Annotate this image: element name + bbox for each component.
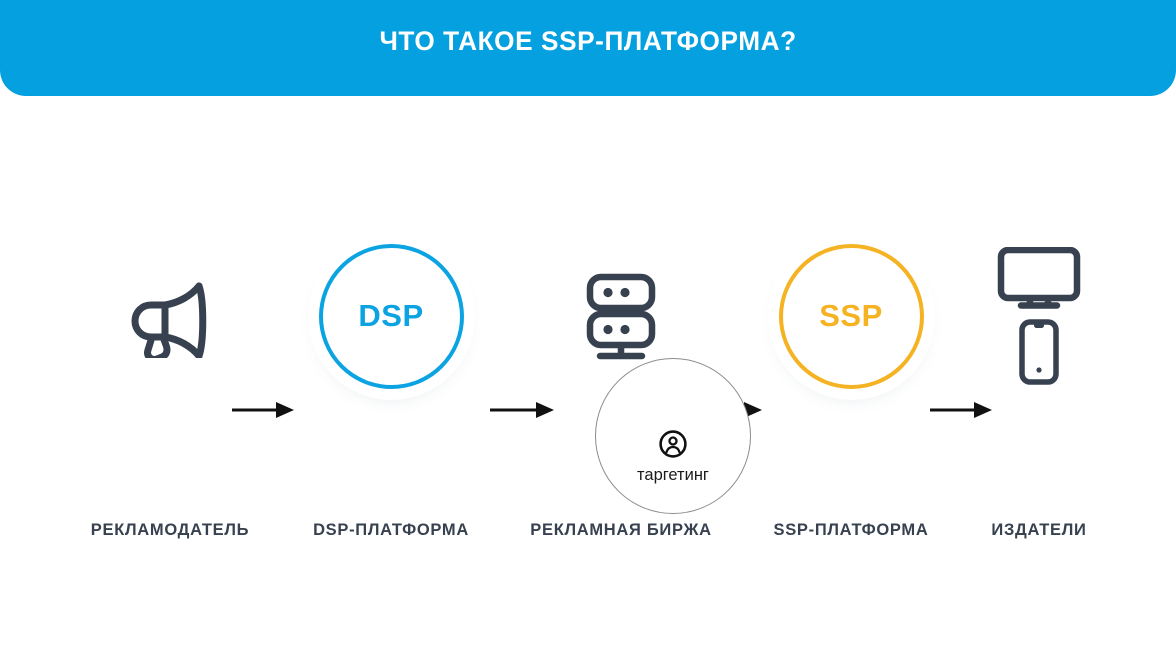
stage-label-dsp: DSP-ПЛАТФОРМА	[280, 521, 502, 540]
dsp-circle-wrap: DSP	[319, 244, 464, 389]
stage-label-ssp: SSP-ПЛАТФОРМА	[740, 521, 962, 540]
megaphone-icon	[122, 274, 218, 358]
stage-publishers: ИЗДАТЕЛИ	[960, 96, 1118, 662]
targeting-label: таргетинг	[637, 466, 709, 485]
dsp-circle-slot: DSP	[280, 216, 502, 416]
smartphone-icon	[1018, 319, 1060, 385]
flow-diagram: РЕКЛАМОДАТЕЛЬ таргетинг DSP	[0, 96, 1176, 662]
page-title: ЧТО ТАКОЕ SSP-ПЛАТФОРМА?	[379, 26, 796, 57]
dsp-platform-circle: DSP	[319, 244, 464, 389]
stage-label-advertiser: РЕКЛАМОДАТЕЛЬ	[60, 521, 280, 540]
stage-label-exchange: РЕКЛАМНАЯ БИРЖА	[510, 521, 732, 540]
ssp-platform-circle: SSP	[779, 244, 924, 389]
stage-ssp: SSP SSP-ПЛАТФОРМА	[740, 96, 962, 662]
ssp-circle-slot: SSP	[740, 216, 962, 416]
ssp-circle-text: SSP	[819, 298, 883, 334]
server-icon	[578, 271, 664, 361]
stage-dsp: таргетинг DSP DSP-ПЛАТФОРМА	[280, 96, 502, 662]
monitor-icon	[997, 247, 1081, 309]
user-circle-icon	[658, 429, 688, 459]
stage-label-publishers: ИЗДАТЕЛИ	[960, 521, 1118, 540]
publishers-icon-slot	[960, 216, 1118, 416]
targeting-node: таргетинг	[595, 358, 751, 514]
header-banner: ЧТО ТАКОЕ SSP-ПЛАТФОРМА?	[0, 0, 1176, 96]
ssp-circle-wrap: SSP	[779, 244, 924, 389]
advertiser-icon-slot	[60, 216, 280, 416]
publisher-device-stack	[997, 247, 1081, 385]
stage-advertiser: РЕКЛАМОДАТЕЛЬ	[60, 96, 280, 662]
dsp-circle-text: DSP	[358, 298, 423, 334]
